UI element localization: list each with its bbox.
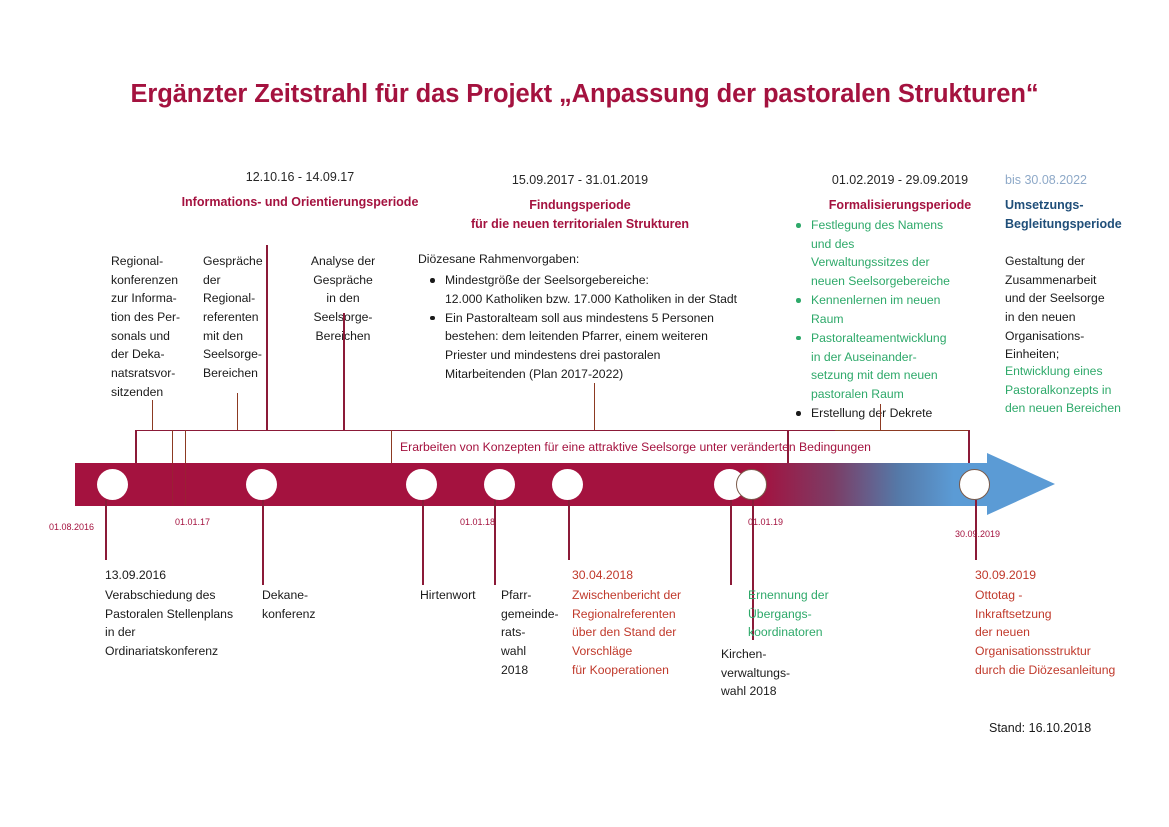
milestone-leader bbox=[422, 500, 424, 585]
connector-line bbox=[152, 400, 153, 431]
milestone-leader bbox=[568, 500, 570, 560]
timeline-node[interactable] bbox=[484, 469, 515, 500]
timeline-node[interactable] bbox=[736, 469, 767, 500]
timeline-arrow-head bbox=[987, 453, 1055, 515]
timeline-node[interactable] bbox=[406, 469, 437, 500]
period-1-col-regionalkonferenzen: Regional- konferenzen zur Informa- tion … bbox=[111, 252, 199, 401]
tick-line bbox=[185, 463, 186, 506]
bracket-drop bbox=[185, 430, 186, 463]
tick-line bbox=[172, 463, 173, 506]
period-4-body-black: Gestaltung der Zusammenarbeit und der Se… bbox=[1005, 252, 1169, 364]
timeline-node[interactable] bbox=[246, 469, 277, 500]
milestone-leader bbox=[975, 500, 977, 560]
milestone-leader bbox=[494, 500, 496, 585]
period-1-date-range: 12.10.16 - 14.09.17 bbox=[140, 170, 460, 184]
connector-line bbox=[343, 313, 345, 431]
bracket-end-left bbox=[135, 430, 137, 463]
milestone-kirchenverwaltungswahl: Kirchen- verwaltungs- wahl 2018 bbox=[721, 645, 831, 701]
axis-label: 30.09.2019 bbox=[955, 529, 1000, 539]
timeline-node[interactable] bbox=[97, 469, 128, 500]
milestone-zwischenbericht: Zwischenbericht der Regionalreferenten ü… bbox=[572, 586, 732, 679]
milestone-ottotag: Ottotag - Inkraftsetzung der neuen Organ… bbox=[975, 586, 1165, 679]
milestone-date-zwischenbericht: 30.04.2018 bbox=[572, 566, 732, 585]
period-2-bullet-list: Mindestgröße der Seelsorgebereiche: 12.0… bbox=[424, 271, 804, 384]
period-1-col-gespraeche: Gespräche der Regional- referenten mit d… bbox=[203, 252, 283, 383]
milestone-leader bbox=[262, 500, 264, 585]
milestone-leader bbox=[105, 500, 107, 560]
period-2-title-line1: Findungsperiode bbox=[420, 197, 740, 214]
list-item: Kennenlernen im neuen Raum bbox=[790, 291, 990, 328]
axis-label: 01.01.18 bbox=[460, 517, 495, 527]
list-item: Pastoralteamentwicklung in der Auseinand… bbox=[790, 329, 990, 404]
period-4-date-range: bis 30.08.2022 bbox=[1005, 173, 1165, 187]
list-item: Ein Pastoralteam soll aus mindestens 5 P… bbox=[424, 309, 804, 384]
timeline-bar bbox=[75, 463, 1085, 506]
timeline-bar-body bbox=[75, 463, 1000, 506]
milestone-dekanekonferenz: Dekane- konferenz bbox=[262, 586, 352, 623]
period-2-title-line2: für die neuen territorialen Strukturen bbox=[410, 216, 750, 233]
period-2-date-range: 15.09.2017 - 31.01.2019 bbox=[420, 173, 740, 187]
list-item: Festlegung des Namens und des Verwaltung… bbox=[790, 216, 990, 291]
banner-label: Erarbeiten von Konzepten für eine attrak… bbox=[400, 440, 970, 454]
bracket-drop bbox=[391, 430, 392, 463]
milestone-verabschiedung-stellenplan: Verabschiedung des Pastoralen Stellenpla… bbox=[105, 586, 265, 661]
timeline-node[interactable] bbox=[959, 469, 990, 500]
milestone-pfarrgemeinderatswahl: Pfarr- gemeinde- rats- wahl 2018 bbox=[501, 586, 569, 679]
timeline-node[interactable] bbox=[552, 469, 583, 500]
milestone-ernennung-uebergangskoordinatoren: Ernennung der Übergangs- koordinatoren bbox=[748, 586, 878, 642]
period-3-title: Formalisierungsperiode bbox=[770, 197, 1030, 214]
period-4-title-line1: Umsetzungs- bbox=[1005, 197, 1165, 214]
period-3-bullet-list: Festlegung des Namens und des Verwaltung… bbox=[790, 216, 990, 423]
connector-line bbox=[266, 245, 268, 431]
page-title: Ergänzter Zeitstrahl für das Projekt „An… bbox=[0, 80, 1169, 109]
bracket-drop bbox=[172, 430, 173, 463]
period-4-title-line2: Begleitungsperiode bbox=[1005, 216, 1165, 233]
bracket-line bbox=[135, 430, 835, 431]
connector-line bbox=[594, 383, 595, 431]
timeline-diagram: Ergänzter Zeitstrahl für das Projekt „An… bbox=[0, 0, 1169, 827]
axis-label: 01.08.2016 bbox=[49, 522, 94, 532]
period-3-date-range: 01.02.2019 - 29.09.2019 bbox=[770, 173, 1030, 187]
milestone-date-ottotag: 30.09.2019 bbox=[975, 566, 1160, 585]
milestone-hirtenwort: Hirtenwort bbox=[420, 586, 500, 605]
list-item: Mindestgröße der Seelsorgebereiche: 12.0… bbox=[424, 271, 804, 308]
stand-note: Stand: 16.10.2018 bbox=[989, 721, 1091, 735]
milestone-date-verabschiedung: 13.09.2016 bbox=[105, 566, 250, 585]
axis-label: 01.01.17 bbox=[175, 517, 210, 527]
list-item: Erstellung der Dekrete bbox=[790, 404, 990, 423]
period-2-intro: Diözesane Rahmenvorgaben: bbox=[418, 250, 788, 269]
connector-line bbox=[880, 404, 881, 431]
bracket-line bbox=[835, 430, 970, 431]
connector-line bbox=[237, 393, 238, 431]
period-4-body-green: Entwicklung eines Pastoralkonzepts in de… bbox=[1005, 362, 1169, 418]
